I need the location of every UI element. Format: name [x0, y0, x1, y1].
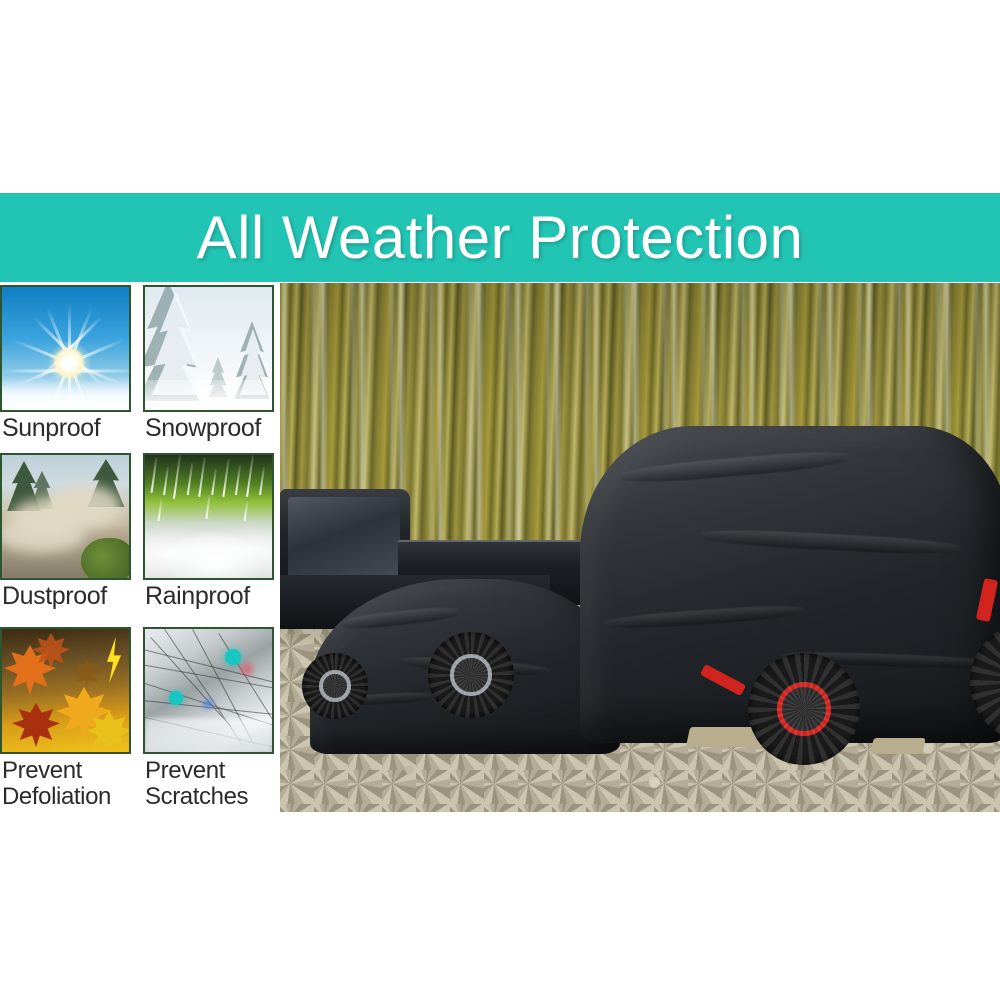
product-infographic: All Weather Protection Sunproof: [0, 0, 1000, 1000]
banner-title: All Weather Protection: [197, 208, 804, 268]
utv-front-wheel-red-rim: [748, 653, 860, 765]
feature-item-sunproof: Sunproof: [0, 285, 131, 441]
sun-scene-thumbnail: [0, 285, 131, 412]
feature-item-rainproof: Rainproof: [143, 453, 274, 609]
banner: All Weather Protection: [0, 193, 1000, 282]
lightning-bolt-icon: [103, 637, 125, 683]
utv-rear-skid-plate: [870, 738, 925, 754]
feature-label-prevent-defoliation: Prevent Defoliation: [0, 758, 131, 810]
snow-scene-thumbnail: [143, 285, 274, 412]
feature-label-rainproof: Rainproof: [143, 584, 274, 609]
feature-label-sunproof: Sunproof: [0, 416, 131, 441]
atv-front-wheel: [428, 632, 514, 718]
dust-scene-thumbnail: [0, 453, 131, 580]
feature-label-dustproof: Dustproof: [0, 584, 131, 609]
scratches-scene-thumbnail: [143, 627, 274, 754]
feature-item-prevent-scratches: Prevent Scratches: [143, 627, 274, 810]
main-product-photo: [280, 283, 1000, 812]
leaves-scene-thumbnail: [0, 627, 131, 754]
feature-label-prevent-scratches: Prevent Scratches: [143, 758, 274, 810]
feature-item-prevent-defoliation: Prevent Defoliation: [0, 627, 131, 810]
feature-item-snowproof: Snowproof: [143, 285, 274, 441]
feature-grid: Sunproof Snowproof: [0, 285, 276, 812]
rain-scene-thumbnail: [143, 453, 274, 580]
feature-label-snowproof: Snowproof: [143, 416, 274, 441]
atv-rear-wheel: [302, 653, 368, 719]
feature-item-dustproof: Dustproof: [0, 453, 131, 609]
